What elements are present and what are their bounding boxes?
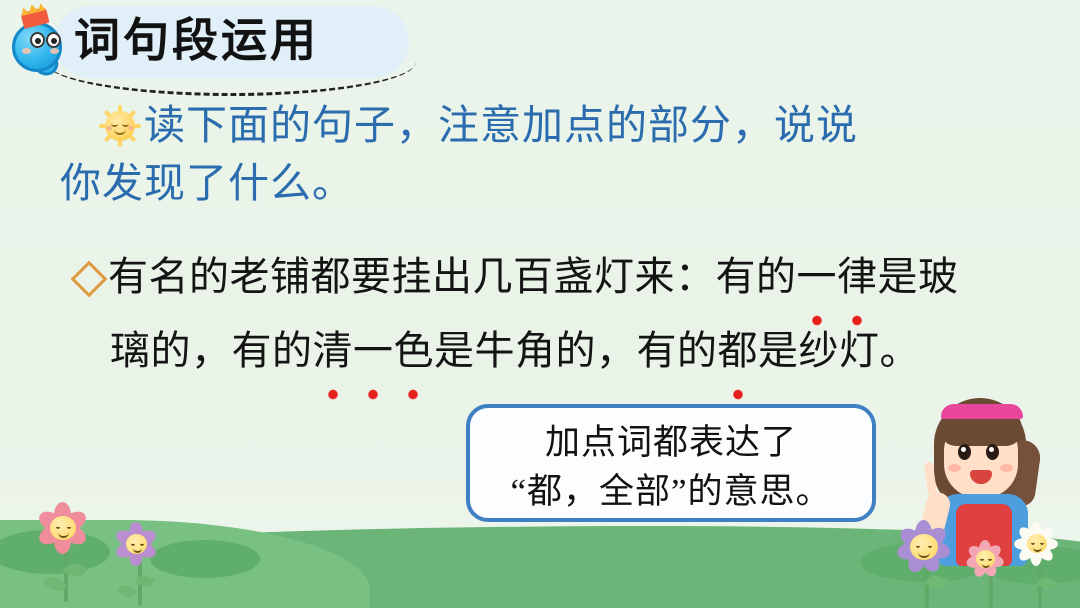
flower-white-right	[1006, 522, 1074, 608]
speech-bubble-line-1: 加点词都表达了	[470, 418, 872, 467]
speech-bubble-line-2: “都，全部”的意思。	[470, 467, 872, 516]
slide-canvas: 词句段运用 读下面的句子，注意加点的部分，说说 你发现了什么。 有名的老铺都要挂…	[0, 0, 1080, 608]
emphasis-word-qingyise: 清一色	[313, 314, 435, 388]
instruction-line-1: 读下面的句子，注意加点的部分，说说	[60, 96, 1020, 154]
speech-bubble: 加点词都表达了 “都，全部”的意思。	[466, 404, 876, 522]
instruction-line-2: 你发现了什么。	[60, 154, 1020, 212]
example-sentence: 有名的老铺都要挂出几百盏灯来：有的一律是玻 璃的，有的清一色是牛角的，有的都是纱…	[76, 240, 1042, 388]
orange-diamond-bullet-icon	[71, 261, 108, 298]
example-sentence-line-2: 璃的，有的清一色是牛角的，有的都是纱灯。	[76, 314, 1042, 388]
example-sentence-line-1: 有名的老铺都要挂出几百盏灯来：有的一律是玻	[76, 240, 1042, 314]
flower-purple-left	[102, 522, 178, 608]
flower-pink-left	[20, 502, 112, 608]
sentence-segment: 璃的，有的	[110, 328, 313, 373]
speech-bubble-text: 加点词都表达了 “都，全部”的意思。	[470, 418, 872, 516]
emphasis-word-yilv: 一律	[797, 240, 878, 314]
emphasis-word-dou: 都	[718, 314, 759, 388]
sentence-segment: 是牛角的，有的	[434, 328, 718, 373]
sentence-segment: 是玻	[878, 254, 959, 299]
instruction-text: 读下面的句子，注意加点的部分，说说 你发现了什么。	[60, 96, 1020, 212]
sentence-segment: 有名的老铺都要挂出几百盏灯来：有的	[108, 254, 797, 299]
blue-q-mascot-icon	[8, 8, 70, 82]
sentence-segment: 是纱灯。	[758, 328, 920, 373]
page-title: 词句段运用	[74, 8, 319, 72]
instruction-line-1-text: 读下面的句子，注意加点的部分，说说	[144, 102, 858, 148]
